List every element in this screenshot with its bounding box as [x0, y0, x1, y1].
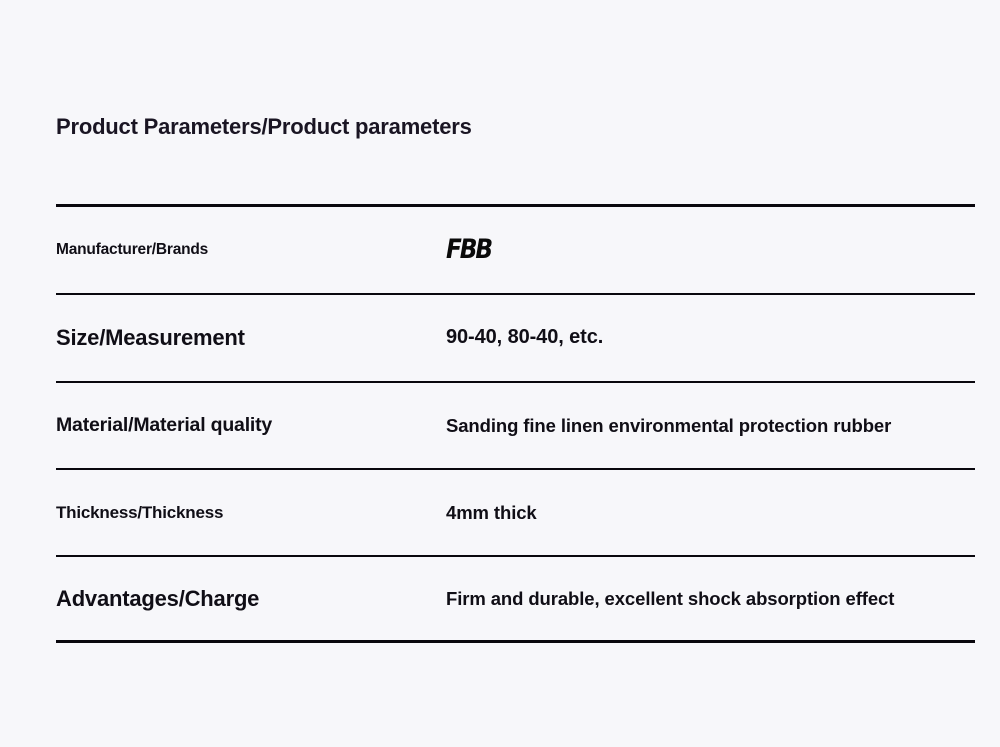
row-value-advantages: Firm and durable, excellent shock absorp…: [446, 588, 975, 610]
table-row: Material/Material quality Sanding fine l…: [56, 383, 975, 468]
table-row: Thickness/Thickness 4mm thick: [56, 470, 975, 555]
row-label-thickness: Thickness/Thickness: [56, 503, 446, 523]
table-row: Advantages/Charge Firm and durable, exce…: [56, 557, 975, 640]
row-label-advantages: Advantages/Charge: [56, 586, 446, 612]
row-label-size: Size/Measurement: [56, 325, 446, 351]
row-value-thickness: 4mm thick: [446, 502, 975, 524]
row-value-size: 90-40, 80-40, etc.: [446, 326, 975, 350]
row-label-manufacturer: Manufacturer/Brands: [56, 241, 446, 259]
table-divider-bottom: [56, 640, 975, 643]
table-row: Size/Measurement 90-40, 80-40, etc.: [56, 295, 975, 381]
fbb-brand-logo: FBB: [446, 236, 491, 263]
page-title: Product Parameters/Product parameters: [56, 114, 472, 140]
row-value-material: Sanding fine linen environmental protect…: [446, 415, 975, 437]
row-value-manufacturer: FBB: [446, 236, 975, 264]
table-row: Manufacturer/Brands FBB: [56, 207, 975, 293]
product-parameters-page: Product Parameters/Product parameters Ma…: [0, 0, 1000, 747]
product-parameters-table: Manufacturer/Brands FBB Size/Measurement…: [56, 204, 975, 643]
row-label-material: Material/Material quality: [56, 414, 446, 437]
